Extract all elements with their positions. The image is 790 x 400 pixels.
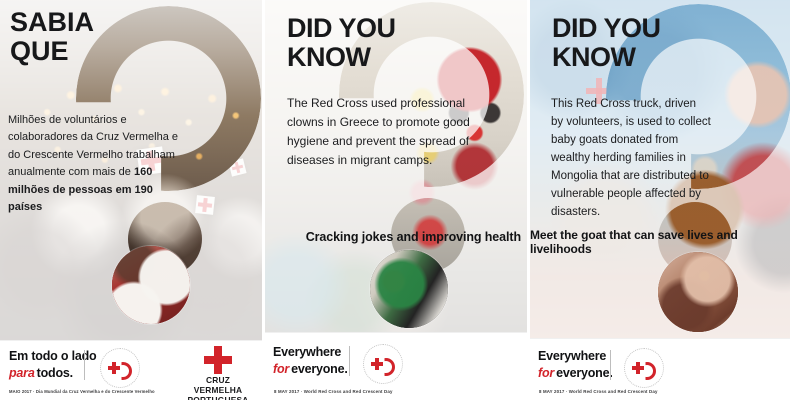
panel1-body-text: Milhões de voluntários e colaboradores d…	[8, 112, 190, 216]
panel1-footer: Em todo o lado paratodos. CRUZ VERMELHA …	[0, 340, 262, 400]
panel-goat-mongolia[interactable]: DID YOU KNOW This Red Cross truck, drive…	[530, 0, 790, 400]
footer-vertical-rule	[610, 350, 611, 380]
slogan-line-2: foreveryone.	[538, 365, 613, 382]
footer-microtext: 8 MAY 2017 · World Red Cross and Red Cre…	[539, 389, 658, 394]
panel3-footer: Everywhere foreveryone. 8 MAY 2017 · Wor…	[530, 338, 790, 400]
slogan-lockup: Everywhere foreveryone.	[538, 348, 613, 382]
slogan-line-2: foreveryone.	[273, 361, 348, 378]
panel1-body-regular: Milhões de voluntários e colaboradores d…	[8, 114, 178, 178]
slogan-emphasis-word: for	[273, 362, 289, 376]
footer-vertical-rule	[84, 350, 85, 380]
red-cross-symbol-icon	[204, 346, 232, 374]
panel-sabia-que[interactable]: SABIA QUE Milhões de voluntários e colab…	[0, 0, 262, 400]
panel3-tagline: Meet the goat that can save lives and li…	[530, 228, 790, 256]
red-cross-icon	[108, 362, 120, 374]
footer-microtext: MAIO 2017 · Dia Mundial da Cruz Vermelha…	[9, 389, 155, 394]
page-title: DID YOU KNOW	[552, 14, 661, 71]
footer-vertical-rule	[349, 346, 350, 376]
slogan-line-1: Everywhere	[273, 344, 348, 361]
panel2-body-text: The Red Cross used professional clowns i…	[287, 94, 477, 170]
ifrc-emblem	[363, 344, 403, 384]
panel-clowns-greece[interactable]: DID YOU KNOW The Red Cross used professi…	[265, 0, 527, 400]
organisation-name: CRUZ VERMELHA PORTUGUESA	[180, 376, 256, 400]
cruz-vermelha-portuguesa-logo: CRUZ VERMELHA PORTUGUESA	[180, 346, 256, 400]
slogan-line-1: Everywhere	[538, 348, 613, 365]
slogan-line-2-rest: everyone.	[556, 366, 613, 380]
campaign-poster-set: SABIA QUE Milhões de voluntários e colab…	[0, 0, 790, 400]
ifrc-emblem	[624, 348, 664, 388]
panel2-footer: Everywhere foreveryone. 8 MAY 2017 · Wor…	[265, 332, 527, 400]
slogan-emphasis-word: for	[538, 366, 554, 380]
page-title: SABIA QUE	[10, 8, 94, 65]
ifrc-emblem	[100, 348, 140, 388]
slogan-line-2-rest: todos.	[37, 366, 73, 380]
red-cross-caps-inset	[112, 246, 190, 324]
panel2-tagline: Cracking jokes and improving health	[306, 230, 521, 244]
page-title: DID YOU KNOW	[287, 14, 396, 71]
slogan-lockup: Everywhere foreveryone.	[273, 344, 348, 378]
slogan-line-2-rest: everyone.	[291, 362, 348, 376]
elderly-hands-inset	[658, 252, 738, 332]
red-cross-flag-icon	[195, 195, 215, 215]
red-cross-icon	[632, 362, 644, 374]
panel3-body-text: This Red Cross truck, driven by voluntee…	[551, 96, 711, 222]
footer-microtext: 8 MAY 2017 · World Red Cross and Red Cre…	[274, 389, 393, 394]
children-watching-inset	[370, 250, 448, 328]
slogan-emphasis-word: para	[9, 366, 35, 380]
red-cross-icon	[371, 358, 383, 370]
